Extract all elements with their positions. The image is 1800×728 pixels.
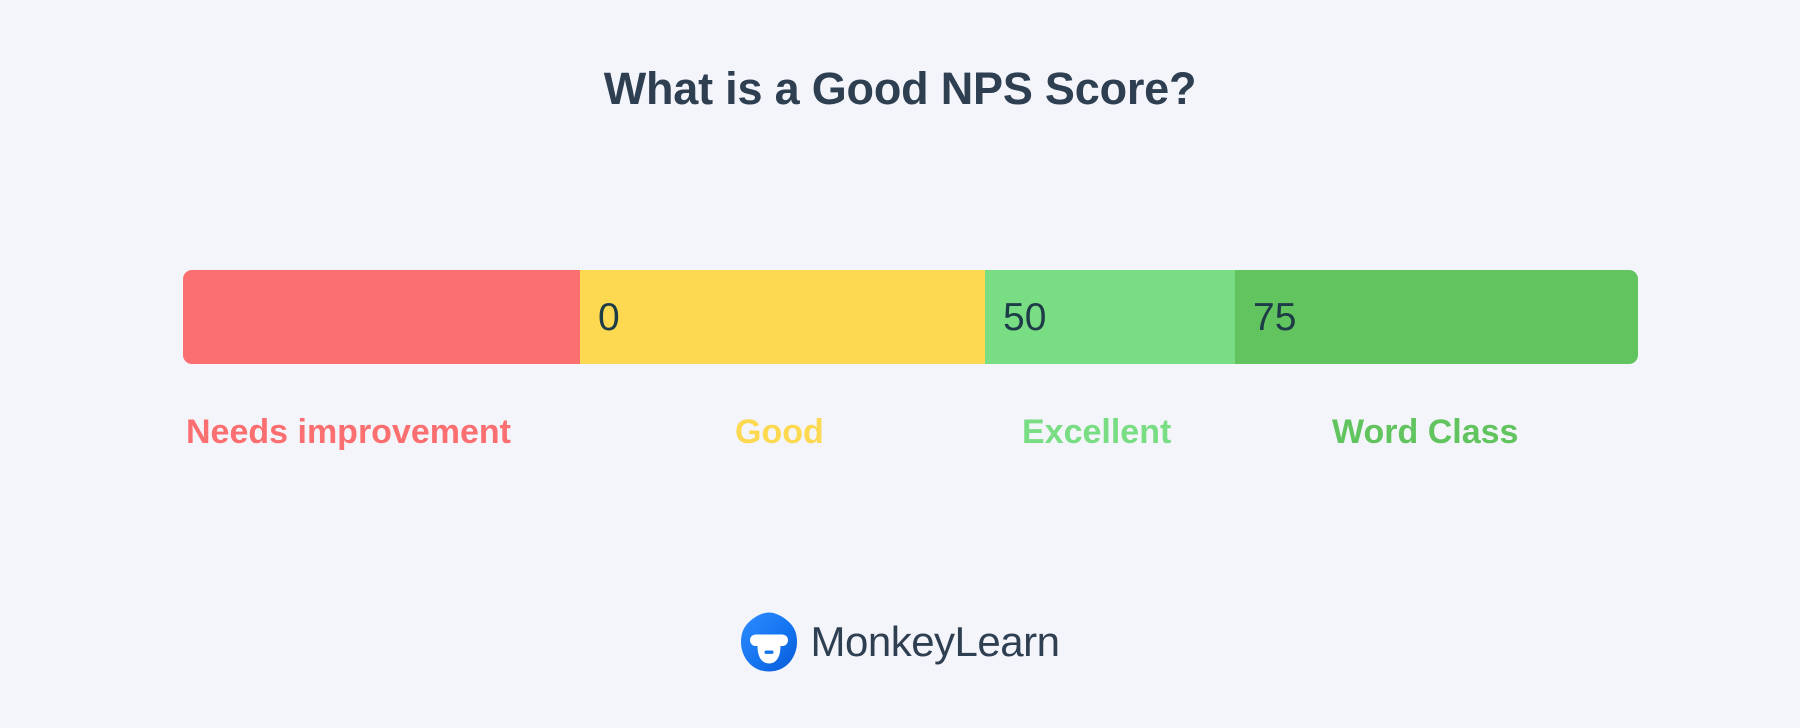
legend-label-word-class: Word Class xyxy=(1332,410,1518,454)
legend-label-good: Good xyxy=(735,410,824,454)
nps-scale-bar: 0 50 75 xyxy=(183,270,1638,364)
scale-segment-needs-improvement xyxy=(183,270,580,364)
brand-footer: MonkeyLearn xyxy=(0,612,1800,672)
legend-label-excellent: Excellent xyxy=(1022,410,1171,454)
scale-value-good: 0 xyxy=(598,298,620,337)
nps-score-infographic: What is a Good NPS Score? 0 50 75 Needs … xyxy=(0,0,1800,728)
legend-label-needs-improvement: Needs improvement xyxy=(186,410,511,454)
scale-segment-excellent: 50 xyxy=(985,270,1235,364)
page-title: What is a Good NPS Score? xyxy=(0,62,1800,116)
monkeylearn-logo-icon xyxy=(741,612,797,672)
scale-legend: Needs improvement Good Excellent Word Cl… xyxy=(183,410,1638,458)
brand-name: MonkeyLearn xyxy=(811,621,1060,663)
scale-segment-word-class: 75 xyxy=(1235,270,1638,364)
scale-value-word-class: 75 xyxy=(1253,298,1296,337)
scale-segment-good: 0 xyxy=(580,270,985,364)
scale-value-excellent: 50 xyxy=(1003,298,1046,337)
